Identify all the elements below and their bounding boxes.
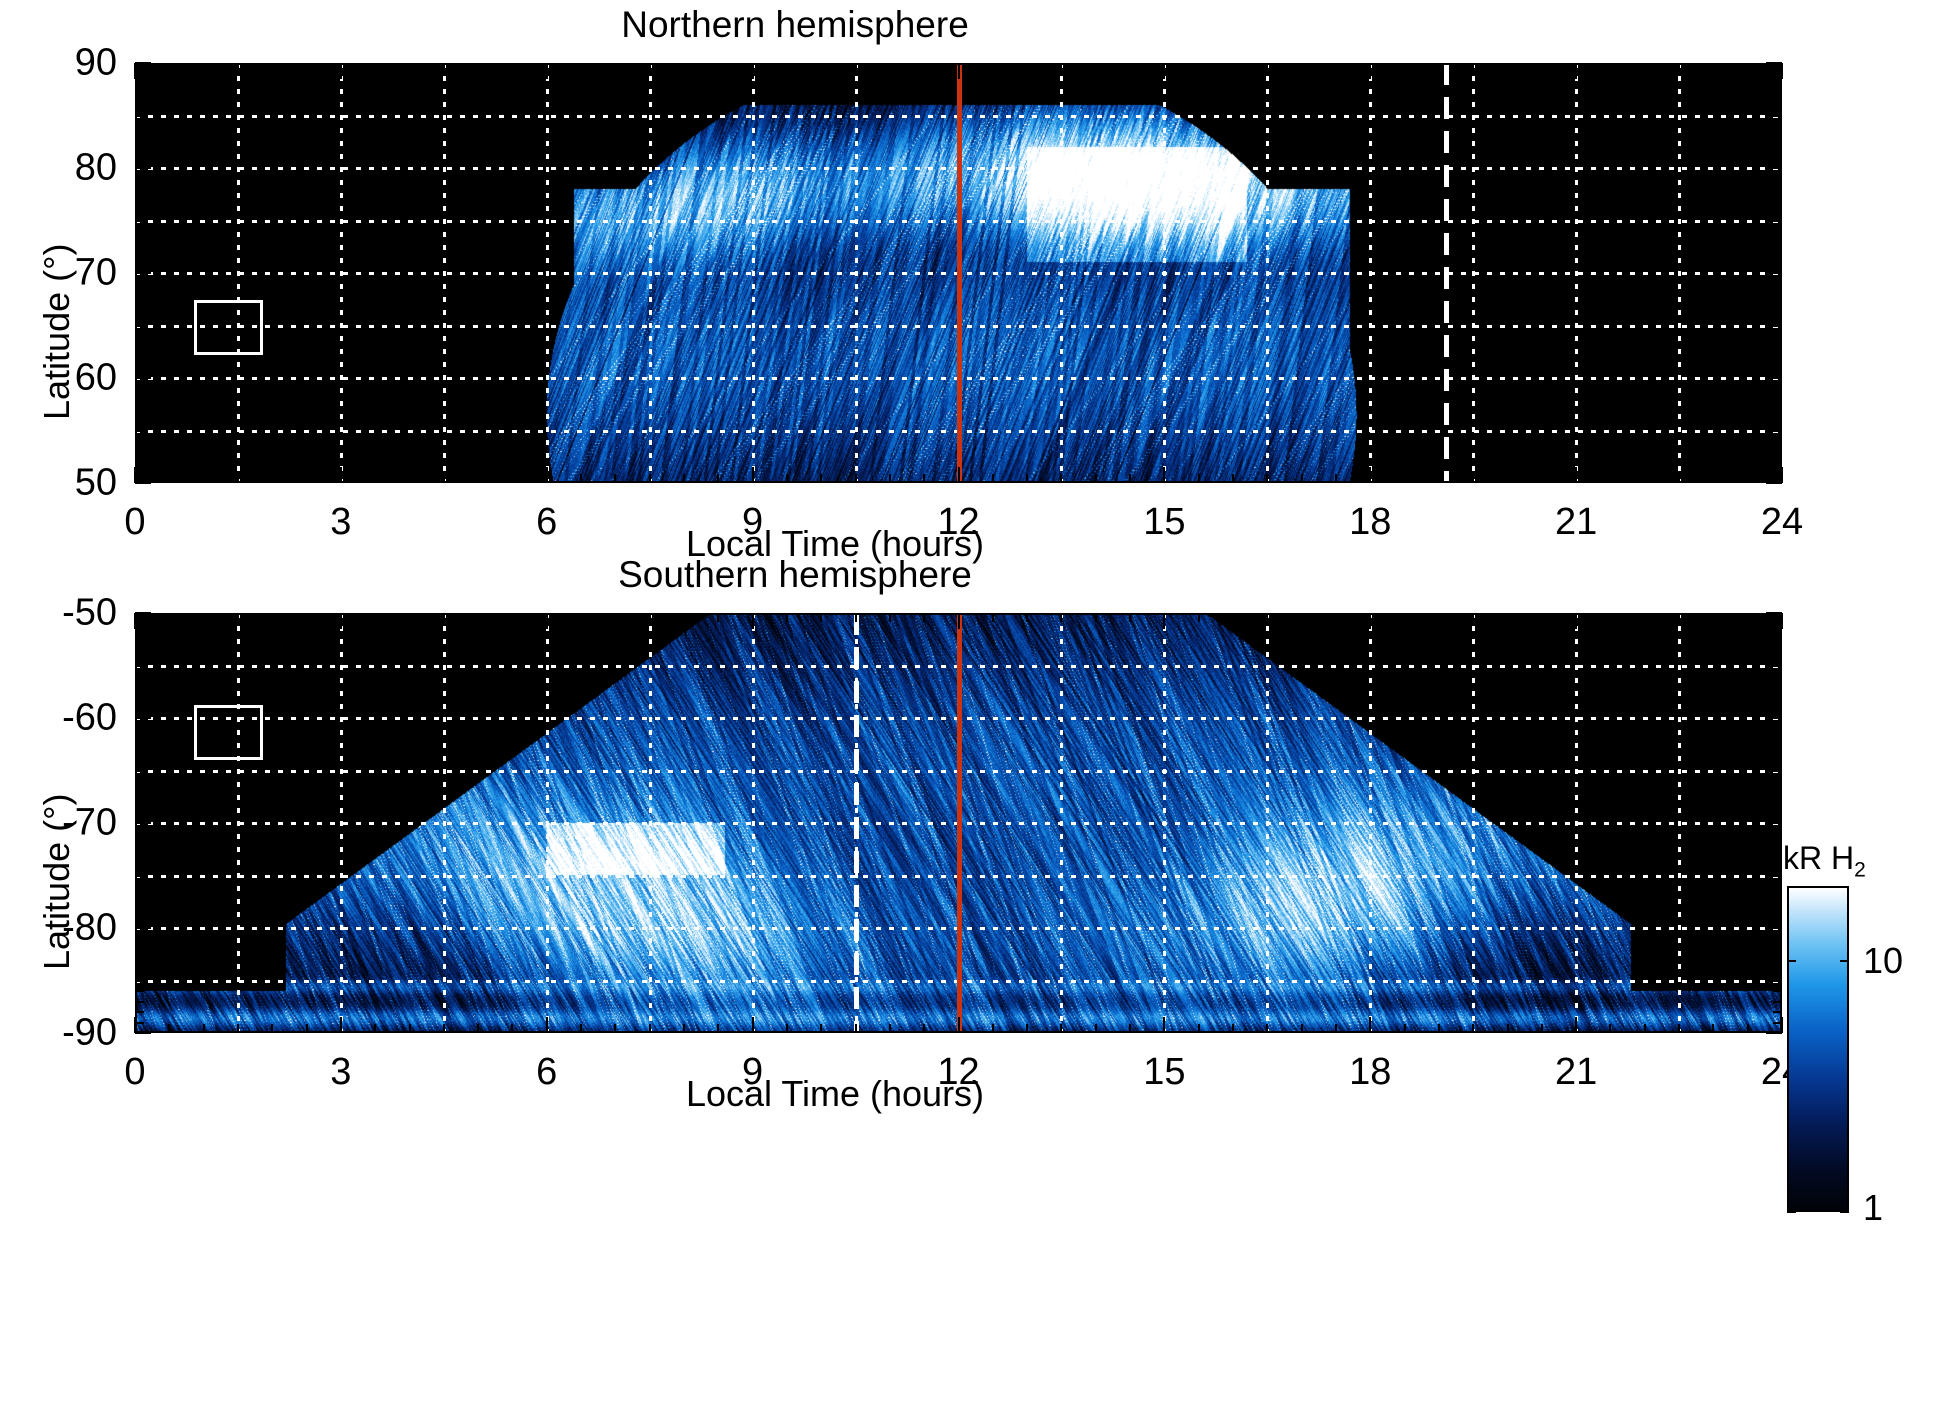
- tick-y-right: [1773, 812, 1782, 814]
- tick-y-left: [135, 644, 144, 646]
- tick-x-top: [1301, 613, 1303, 622]
- tick-x-top: [134, 613, 136, 629]
- tick-y-left: [135, 209, 144, 211]
- tick-y-right: [1773, 654, 1782, 656]
- tick-y-left: [135, 1032, 151, 1034]
- tick-x-top: [1712, 63, 1714, 72]
- tick-y-right: [1773, 833, 1782, 835]
- tick-x-top: [1369, 613, 1371, 629]
- tick-y-left: [135, 104, 144, 106]
- tick-y-left: [135, 335, 144, 337]
- tick-y-right: [1773, 220, 1782, 222]
- tick-y-right: [1766, 272, 1782, 274]
- tick-y-left: [135, 843, 144, 845]
- tick-x-bottom: [1301, 1024, 1303, 1033]
- tick-y-left: [135, 367, 144, 369]
- tick-x-bottom: [271, 1024, 273, 1033]
- tick-x-top: [1404, 613, 1406, 622]
- tick-x-top: [168, 613, 170, 622]
- tick-x-top: [1609, 613, 1611, 622]
- tick-x-top: [203, 63, 205, 72]
- tick-x-top: [306, 613, 308, 622]
- tick-y-left: [135, 717, 151, 719]
- tick-x-bottom: [1644, 1024, 1646, 1033]
- tick-y-left: [135, 812, 144, 814]
- tick-y-left: [135, 686, 144, 688]
- tick-x-bottom: [134, 1017, 136, 1033]
- tick-y-right: [1773, 115, 1782, 117]
- tick-x-bottom: [889, 474, 891, 483]
- tick-x-top: [1266, 63, 1268, 72]
- tick-x-bottom: [237, 1024, 239, 1033]
- tick-x-top: [683, 613, 685, 622]
- colorbar-title: kR H2: [1783, 840, 1866, 882]
- tick-x-top: [1541, 63, 1543, 72]
- tick-x-top: [1781, 613, 1783, 629]
- southern-y-axis-label: Latitude (°): [36, 794, 78, 970]
- tick-x-top: [1438, 63, 1440, 72]
- tick-y-right: [1773, 178, 1782, 180]
- tick-y-left: [135, 749, 144, 751]
- y-tick-label: -60: [17, 697, 117, 740]
- tick-y-left: [135, 62, 151, 64]
- y-tick-label: -50: [17, 592, 117, 635]
- tick-y-left: [135, 864, 144, 866]
- tick-y-left: [135, 822, 151, 824]
- tick-x-bottom: [546, 1017, 548, 1033]
- tick-y-left: [135, 125, 144, 127]
- tick-x-top: [1129, 63, 1131, 72]
- tick-y-right: [1773, 430, 1782, 432]
- southern-plot-area: [135, 613, 1782, 1033]
- tick-y-left: [135, 241, 144, 243]
- tick-y-right: [1773, 451, 1782, 453]
- tick-y-left: [135, 356, 144, 358]
- tick-x-bottom: [1198, 474, 1200, 483]
- tick-x-top: [134, 63, 136, 79]
- tick-y-left: [135, 251, 144, 253]
- tick-x-bottom: [134, 467, 136, 483]
- tick-y-left: [135, 917, 144, 919]
- tick-y-right: [1773, 293, 1782, 295]
- tick-x-bottom: [1472, 474, 1474, 483]
- tick-y-left: [135, 654, 144, 656]
- colorbar-tick-label: 1: [1863, 1187, 1883, 1229]
- tick-y-right: [1773, 104, 1782, 106]
- tick-y-right: [1766, 482, 1782, 484]
- tick-y-right: [1773, 136, 1782, 138]
- tick-x-bottom: [1438, 474, 1440, 483]
- tick-y-right: [1766, 167, 1782, 169]
- tick-y-left: [135, 1001, 144, 1003]
- figure-root: Northern hemisphere 03691215182124 50607…: [0, 0, 1950, 1423]
- tick-x-bottom: [1404, 474, 1406, 483]
- tick-y-right: [1773, 325, 1782, 327]
- tick-x-bottom: [855, 474, 857, 483]
- tick-y-right: [1773, 262, 1782, 264]
- tick-x-bottom: [409, 1024, 411, 1033]
- colorbar-gradient: [1787, 886, 1849, 1212]
- tick-y-right: [1773, 125, 1782, 127]
- tick-y-left: [135, 1022, 144, 1024]
- tick-y-left: [135, 146, 144, 148]
- tick-y-right: [1773, 644, 1782, 646]
- tick-y-right: [1766, 62, 1782, 64]
- tick-x-top: [1095, 613, 1097, 622]
- tick-x-top: [992, 613, 994, 622]
- tick-x-top: [923, 63, 925, 72]
- tick-x-bottom: [1507, 1024, 1509, 1033]
- tick-x-top: [1060, 613, 1062, 622]
- tick-x-bottom: [683, 1024, 685, 1033]
- tick-x-top: [340, 63, 342, 79]
- tick-x-bottom: [889, 1024, 891, 1033]
- tick-x-bottom: [1198, 1024, 1200, 1033]
- tick-x-top: [1712, 613, 1714, 622]
- tick-x-bottom: [1369, 1017, 1371, 1033]
- tick-y-left: [135, 833, 144, 835]
- tick-y-right: [1773, 696, 1782, 698]
- tick-x-bottom: [1163, 1017, 1165, 1033]
- tick-x-bottom: [237, 474, 239, 483]
- tick-x-top: [1747, 613, 1749, 622]
- tick-y-left: [135, 409, 144, 411]
- tick-y-left: [135, 304, 144, 306]
- tick-y-left: [135, 283, 144, 285]
- tick-x-bottom: [683, 474, 685, 483]
- tick-x-top: [477, 613, 479, 622]
- southern-x-axis-label: Local Time (hours): [0, 1073, 1810, 1115]
- tick-x-bottom: [374, 474, 376, 483]
- tick-y-left: [135, 801, 144, 803]
- tick-x-bottom: [1026, 474, 1028, 483]
- tick-y-right: [1773, 83, 1782, 85]
- tick-y-left: [135, 398, 144, 400]
- tick-y-right: [1773, 738, 1782, 740]
- tick-y-right: [1773, 241, 1782, 243]
- tick-x-bottom: [614, 474, 616, 483]
- tick-y-left: [135, 440, 144, 442]
- tick-y-left: [135, 875, 144, 877]
- tick-x-top: [1472, 613, 1474, 622]
- tick-x-bottom: [1747, 1024, 1749, 1033]
- tick-x-bottom: [1404, 1024, 1406, 1033]
- tick-y-right: [1773, 283, 1782, 285]
- tick-x-top: [820, 63, 822, 72]
- tick-x-bottom: [786, 1024, 788, 1033]
- tick-y-right: [1773, 707, 1782, 709]
- tick-x-top: [580, 613, 582, 622]
- tick-x-bottom: [168, 474, 170, 483]
- tick-x-bottom: [1095, 1024, 1097, 1033]
- tick-x-bottom: [168, 1024, 170, 1033]
- tick-y-left: [135, 262, 144, 264]
- northern-panel-title: Northern hemisphere: [0, 4, 1770, 46]
- tick-x-bottom: [1266, 474, 1268, 483]
- tick-y-left: [135, 157, 144, 159]
- tick-x-top: [1507, 613, 1509, 622]
- tick-x-bottom: [1712, 474, 1714, 483]
- tick-x-top: [992, 63, 994, 72]
- tick-y-right: [1773, 346, 1782, 348]
- tick-x-bottom: [649, 474, 651, 483]
- colorbar-title-text: kR H: [1783, 840, 1854, 876]
- tick-x-top: [1644, 63, 1646, 72]
- tick-y-left: [135, 199, 144, 201]
- tick-y-left: [135, 230, 144, 232]
- tick-x-bottom: [820, 1024, 822, 1033]
- tick-x-top: [1541, 613, 1543, 622]
- tick-x-top: [1232, 613, 1234, 622]
- tick-x-bottom: [511, 1024, 513, 1033]
- tick-y-left: [135, 272, 151, 274]
- tick-y-right: [1773, 472, 1782, 474]
- tick-y-right: [1773, 440, 1782, 442]
- tick-x-top: [1301, 63, 1303, 72]
- tick-x-top: [923, 613, 925, 622]
- tick-y-left: [135, 73, 144, 75]
- tick-x-bottom: [306, 1024, 308, 1033]
- tick-x-bottom: [1781, 467, 1783, 483]
- tick-y-left: [135, 314, 144, 316]
- tick-x-top: [1644, 613, 1646, 622]
- tick-x-top: [1507, 63, 1509, 72]
- northern-y-axis-label: Latitude (°): [36, 244, 78, 420]
- tick-x-bottom: [752, 1017, 754, 1033]
- tick-y-right: [1773, 251, 1782, 253]
- tick-x-bottom: [1507, 474, 1509, 483]
- tick-x-top: [614, 613, 616, 622]
- tick-x-top: [855, 63, 857, 72]
- colorbar-tick-mark: [1840, 960, 1849, 962]
- tick-x-bottom: [1609, 474, 1611, 483]
- noon-line: [957, 613, 962, 1033]
- tick-x-bottom: [958, 467, 960, 483]
- tick-y-left: [135, 115, 144, 117]
- tick-x-bottom: [752, 467, 754, 483]
- tick-x-top: [1781, 63, 1783, 79]
- tick-y-right: [1773, 633, 1782, 635]
- tick-x-bottom: [580, 1024, 582, 1033]
- tick-x-bottom: [717, 1024, 719, 1033]
- tick-y-left: [135, 220, 144, 222]
- tick-y-right: [1773, 665, 1782, 667]
- tick-y-left: [135, 623, 144, 625]
- tick-x-bottom: [1575, 467, 1577, 483]
- tick-y-left: [135, 969, 144, 971]
- colorbar-group: kR H2 110: [1780, 840, 1950, 1220]
- tick-x-bottom: [1609, 1024, 1611, 1033]
- tick-x-bottom: [992, 1024, 994, 1033]
- tick-y-right: [1773, 367, 1782, 369]
- tick-y-right: [1773, 73, 1782, 75]
- colorbar-tick-mark: [1840, 1211, 1849, 1213]
- tick-x-bottom: [477, 474, 479, 483]
- tick-x-top: [580, 63, 582, 72]
- tick-x-top: [889, 613, 891, 622]
- tick-y-left: [135, 980, 144, 982]
- tick-x-top: [1335, 613, 1337, 622]
- tick-y-right: [1773, 675, 1782, 677]
- tick-x-bottom: [923, 1024, 925, 1033]
- tick-x-bottom: [958, 1017, 960, 1033]
- tick-y-left: [135, 906, 144, 908]
- tick-x-top: [1472, 63, 1474, 72]
- tick-x-bottom: [306, 474, 308, 483]
- tick-x-bottom: [203, 1024, 205, 1033]
- tick-x-top: [1747, 63, 1749, 72]
- tick-y-right: [1773, 780, 1782, 782]
- tick-x-top: [649, 63, 651, 72]
- tick-x-top: [1198, 613, 1200, 622]
- tick-x-top: [443, 613, 445, 622]
- tick-x-top: [1026, 63, 1028, 72]
- tick-y-right: [1773, 728, 1782, 730]
- y-tick-label: -90: [17, 1012, 117, 1055]
- tick-y-right: [1773, 770, 1782, 772]
- tick-x-top: [271, 63, 273, 72]
- tick-x-bottom: [580, 474, 582, 483]
- colorbar-title-subscript: 2: [1854, 858, 1866, 881]
- terminator-line: [1444, 63, 1449, 483]
- tick-x-top: [752, 613, 754, 629]
- tick-x-top: [1232, 63, 1234, 72]
- tick-x-top: [374, 613, 376, 622]
- tick-x-top: [1060, 63, 1062, 72]
- tick-x-top: [1198, 63, 1200, 72]
- panel-southern-hemisphere: Southern hemisphere 03691215182124 -90-8…: [0, 550, 1950, 1120]
- tick-x-top: [958, 63, 960, 79]
- tick-y-left: [135, 948, 144, 950]
- tick-y-left: [135, 472, 144, 474]
- tick-y-right: [1773, 749, 1782, 751]
- tick-y-left: [135, 959, 144, 961]
- tick-x-top: [374, 63, 376, 72]
- tick-x-bottom: [1129, 474, 1131, 483]
- tick-x-top: [1609, 63, 1611, 72]
- tick-y-right: [1773, 304, 1782, 306]
- tick-x-bottom: [1541, 474, 1543, 483]
- northern-plot-area: [135, 63, 1782, 483]
- tick-x-top: [717, 63, 719, 72]
- tick-x-bottom: [1747, 474, 1749, 483]
- tick-x-top: [546, 63, 548, 79]
- tick-y-left: [135, 188, 144, 190]
- tick-x-top: [409, 63, 411, 72]
- tick-y-right: [1773, 209, 1782, 211]
- tick-y-right: [1773, 314, 1782, 316]
- tick-x-bottom: [340, 467, 342, 483]
- tick-x-bottom: [1163, 467, 1165, 483]
- tick-y-left: [135, 707, 144, 709]
- tick-x-bottom: [1335, 474, 1337, 483]
- tick-x-top: [855, 613, 857, 622]
- noon-line: [957, 63, 962, 483]
- tick-y-right: [1766, 717, 1782, 719]
- tick-y-left: [135, 167, 151, 169]
- tick-x-top: [1678, 613, 1680, 622]
- tick-y-right: [1773, 230, 1782, 232]
- tick-y-right: [1773, 335, 1782, 337]
- tick-y-left: [135, 346, 144, 348]
- southern-panel-title: Southern hemisphere: [0, 554, 1770, 596]
- colorbar-tick-mark: [1787, 960, 1796, 962]
- tick-x-bottom: [1129, 1024, 1131, 1033]
- tick-x-bottom: [1095, 474, 1097, 483]
- tick-y-left: [135, 896, 144, 898]
- tick-y-left: [135, 482, 151, 484]
- tick-x-bottom: [1232, 1024, 1234, 1033]
- y-tick-label: 80: [17, 147, 117, 190]
- tick-x-top: [511, 613, 513, 622]
- tick-y-left: [135, 665, 144, 667]
- tick-x-top: [477, 63, 479, 72]
- tick-y-left: [135, 461, 144, 463]
- tick-y-left: [135, 83, 144, 85]
- tick-y-right: [1773, 409, 1782, 411]
- tick-y-right: [1773, 188, 1782, 190]
- tick-x-bottom: [443, 474, 445, 483]
- tick-y-left: [135, 696, 144, 698]
- tick-x-bottom: [1472, 1024, 1474, 1033]
- tick-y-left: [135, 791, 144, 793]
- tick-x-top: [1678, 63, 1680, 72]
- tick-x-top: [1438, 613, 1440, 622]
- tick-x-top: [614, 63, 616, 72]
- tick-y-right: [1773, 388, 1782, 390]
- tick-x-top: [820, 613, 822, 622]
- tick-y-left: [135, 94, 144, 96]
- tick-y-left: [135, 612, 151, 614]
- tick-x-top: [306, 63, 308, 72]
- tick-y-right: [1773, 801, 1782, 803]
- tick-x-top: [649, 613, 651, 622]
- y-tick-label: 50: [17, 462, 117, 505]
- tick-y-left: [135, 780, 144, 782]
- tick-y-left: [135, 293, 144, 295]
- tick-x-bottom: [1060, 1024, 1062, 1033]
- tick-y-left: [135, 885, 144, 887]
- tick-x-top: [340, 613, 342, 629]
- tick-y-left: [135, 430, 144, 432]
- tick-x-bottom: [1712, 1024, 1714, 1033]
- tick-x-top: [1266, 613, 1268, 622]
- tick-x-bottom: [374, 1024, 376, 1033]
- tick-x-bottom: [203, 474, 205, 483]
- tick-x-bottom: [855, 1024, 857, 1033]
- tick-x-bottom: [443, 1024, 445, 1033]
- tick-x-top: [786, 613, 788, 622]
- tick-x-bottom: [546, 467, 548, 483]
- tick-x-top: [1575, 613, 1577, 629]
- tick-x-top: [1575, 63, 1577, 79]
- tick-x-top: [546, 613, 548, 629]
- tick-y-left: [135, 759, 144, 761]
- southern-roi-box: [194, 705, 263, 760]
- tick-y-left: [135, 990, 144, 992]
- tick-x-bottom: [271, 474, 273, 483]
- tick-x-bottom: [511, 474, 513, 483]
- tick-x-top: [511, 63, 513, 72]
- tick-x-bottom: [1678, 1024, 1680, 1033]
- tick-y-left: [135, 938, 144, 940]
- tick-y-left: [135, 377, 151, 379]
- tick-y-right: [1773, 686, 1782, 688]
- tick-y-left: [135, 1011, 144, 1013]
- tick-x-top: [203, 613, 205, 622]
- tick-y-left: [135, 136, 144, 138]
- tick-x-top: [1026, 613, 1028, 622]
